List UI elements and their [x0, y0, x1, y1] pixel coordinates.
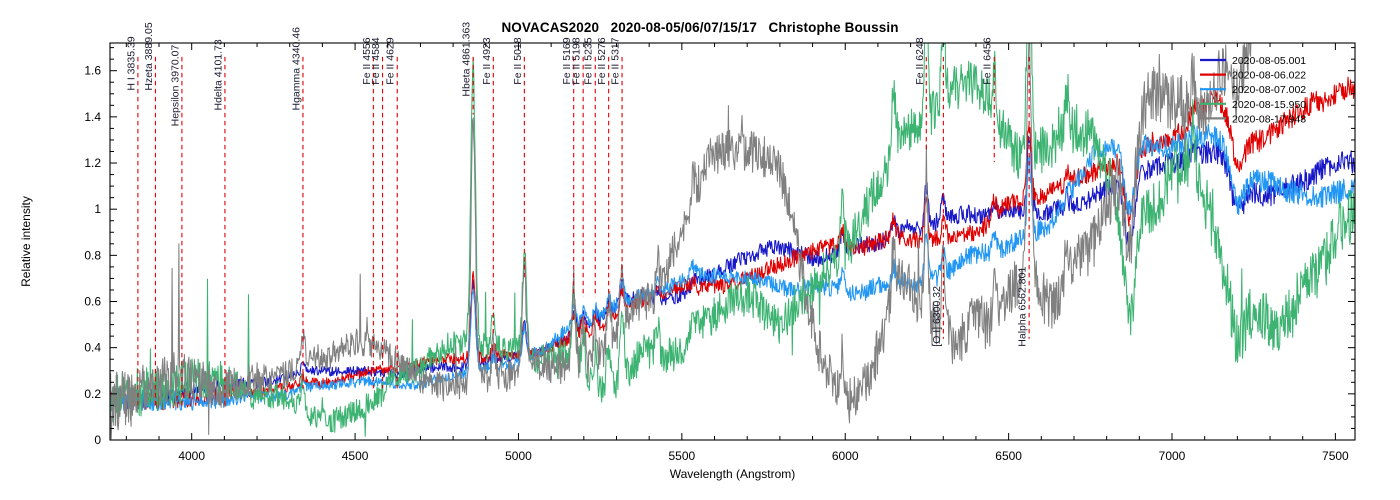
marker-label: Hbeta 4861.363 — [461, 22, 473, 97]
marker-label: Fe II 6456 — [982, 37, 994, 84]
marker-label: Fe II 4923 — [481, 37, 493, 84]
legend-label: 2020-08-05.001 — [1232, 55, 1306, 67]
legend-label: 2020-08-07.002 — [1232, 84, 1306, 96]
marker-label: Fe II 6248 — [914, 37, 926, 84]
x-tick-label: 5500 — [668, 449, 695, 463]
y-tick-label: 1.4 — [84, 110, 101, 124]
x-axis-label: Wavelength (Angstrom) — [670, 467, 796, 481]
x-tick-label: 6000 — [832, 449, 859, 463]
y-tick-label: 0.8 — [84, 248, 101, 262]
y-tick-label: 0.6 — [84, 295, 101, 309]
y-tick-label: 1.2 — [84, 156, 101, 170]
marker-label: Fe II 5018 — [512, 37, 524, 84]
y-tick-label: 1 — [94, 202, 101, 216]
marker-label: Hgamma 4340.46 — [290, 27, 302, 111]
legend-label: 2020-08-17.948 — [1232, 113, 1306, 125]
marker-label: Fe II 4629 — [385, 37, 397, 84]
marker-label: Hzeta 3889.05 — [143, 22, 155, 90]
y-tick-label: 0 — [94, 433, 101, 447]
y-tick-label: 0.2 — [84, 387, 101, 401]
marker-label: Fe II 5317 — [610, 37, 622, 84]
y-axis-label: Relative intensity — [19, 196, 33, 287]
marker-label: Fe II 5198 — [571, 37, 583, 84]
marker-label: H I 3835.39 — [125, 36, 137, 90]
x-tick-label: 4500 — [342, 449, 369, 463]
x-tick-label: 4000 — [178, 449, 205, 463]
marker-label: Hdelta 4101.73 — [212, 39, 224, 110]
y-tick-label: 1.6 — [84, 64, 101, 78]
marker-label: Halpha 6562.801 — [1017, 267, 1029, 347]
x-tick-label: 7500 — [1322, 449, 1349, 463]
legend: 2020-08-05.0012020-08-06.0222020-08-07.0… — [1200, 55, 1306, 125]
legend-label: 2020-08-06.022 — [1232, 70, 1306, 82]
y-tick-label: 0.4 — [84, 341, 101, 355]
legend-label: 2020-08-15.950 — [1232, 99, 1306, 111]
x-tick-label: 5000 — [505, 449, 532, 463]
spectrum-chart-window: NOVACAS2020 2020-08-05/06/07/15/17 Chris… — [0, 0, 1400, 500]
x-tick-label: 7000 — [1159, 449, 1186, 463]
marker-label: Fe II 5276 — [596, 37, 608, 84]
marker-label: [O I] 6300.32 — [931, 286, 943, 347]
x-tick-label: 6500 — [995, 449, 1022, 463]
marker-label: Fe II 5235 — [583, 37, 595, 84]
marker-label: Fe II 4584 — [370, 37, 382, 84]
spectrum-plot: H I 3835.39Hzeta 3889.05Hepsilon 3970.07… — [0, 0, 1400, 500]
marker-label: Hepsilon 3970.07 — [169, 44, 181, 126]
